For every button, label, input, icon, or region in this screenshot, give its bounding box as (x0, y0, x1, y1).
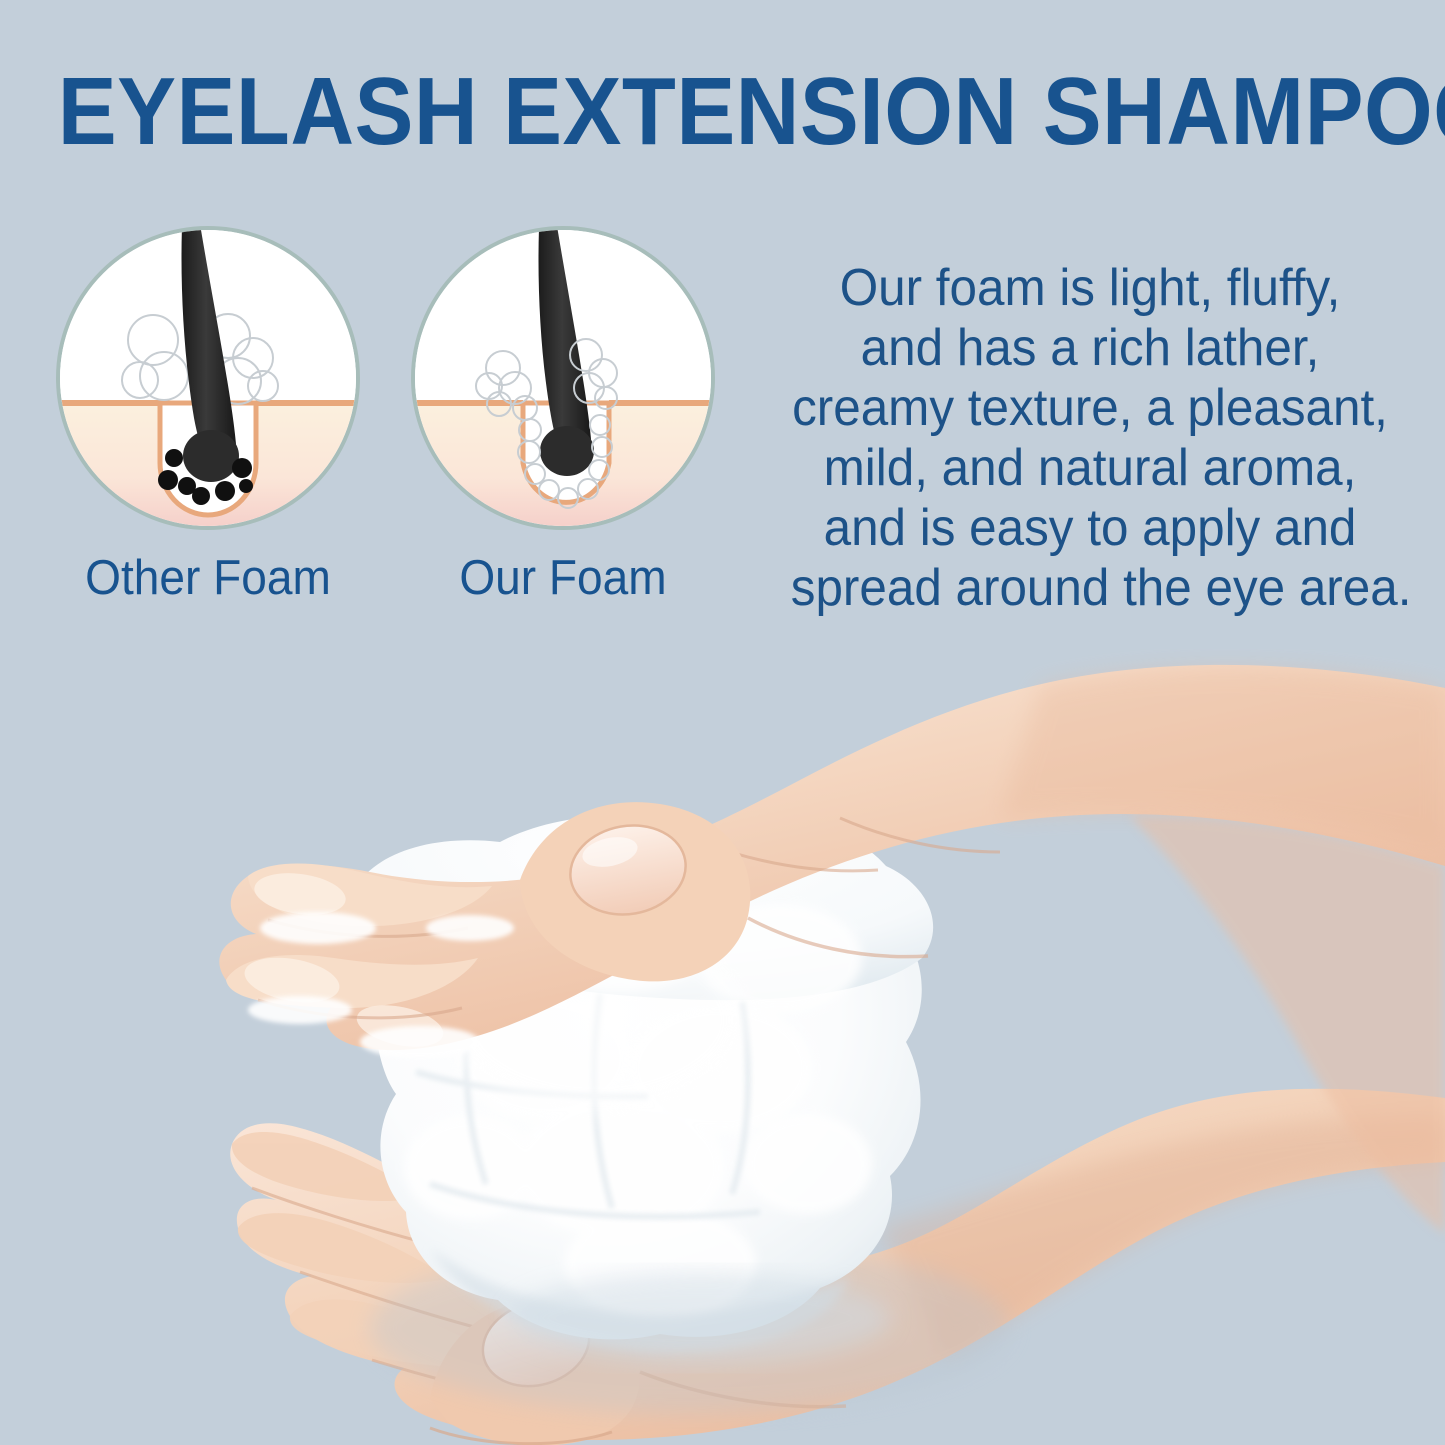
description-line-3: creamy texture, a pleasant, (791, 378, 1390, 438)
comparison-label-other-foam: Other Foam (58, 550, 359, 606)
follicle-dirty-icon (48, 218, 368, 538)
description-line-2: and has a rich lather, (791, 318, 1390, 378)
page-title: EYELASH EXTENSION SHAMPOO (58, 62, 1387, 163)
follicle-clean-icon (403, 218, 723, 538)
description-line-6: spread around the eye area. (791, 558, 1390, 618)
product-description: Our foam is light, fluffy, and has a ric… (791, 258, 1390, 618)
comparison-label-our-foam: Our Foam (413, 550, 714, 606)
description-line-1: Our foam is light, fluffy, (791, 258, 1390, 318)
hands-with-foam-photo (0, 628, 1445, 1445)
comparison-item-our-foam: Our Foam (403, 218, 723, 638)
foam-comparison: Other Foam (48, 218, 738, 638)
description-line-5: and is easy to apply and (791, 498, 1390, 558)
comparison-item-other-foam: Other Foam (48, 218, 368, 638)
product-infographic: EYELASH EXTENSION SHAMPOO (0, 0, 1445, 1445)
description-line-4: mild, and natural aroma, (791, 438, 1390, 498)
